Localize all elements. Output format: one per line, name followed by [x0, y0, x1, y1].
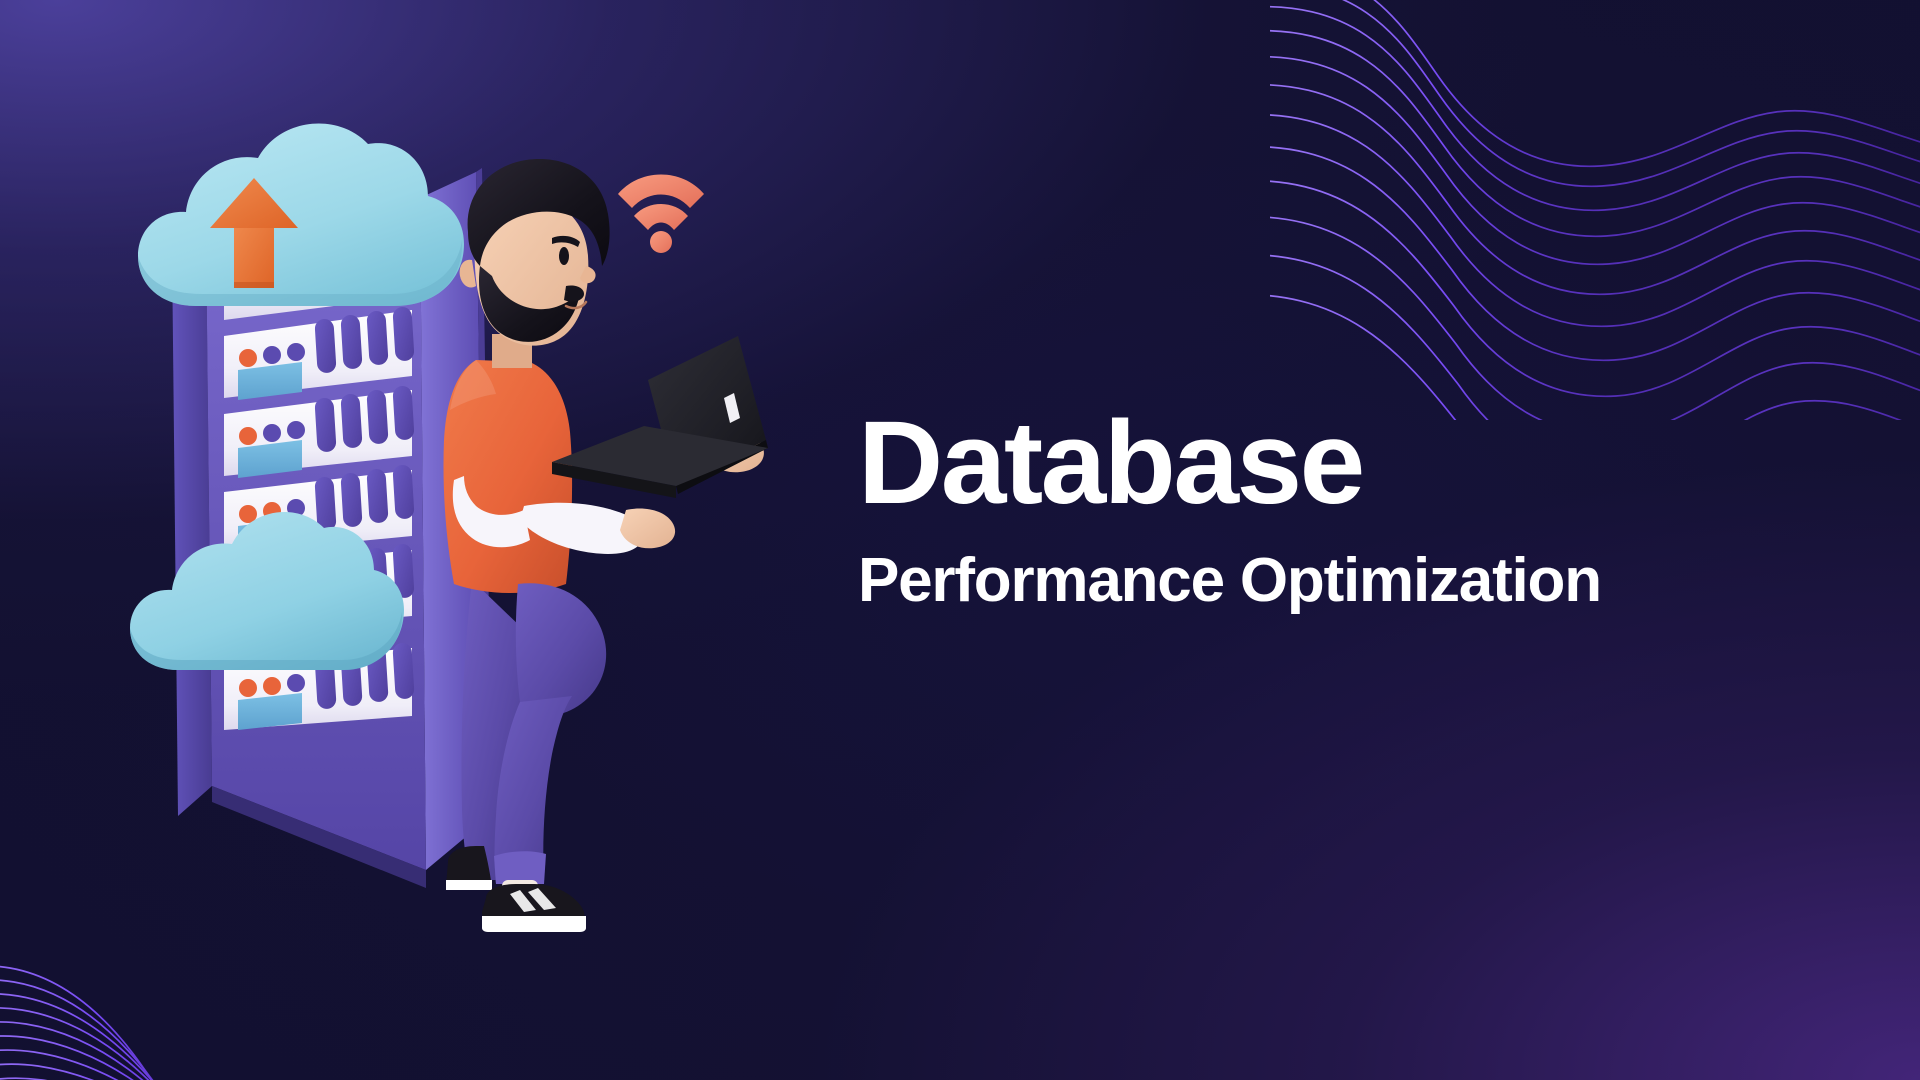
hero-banner: Database Performance Optimization — [0, 0, 1920, 1080]
wifi-icon — [618, 175, 704, 254]
character-front-thigh — [516, 583, 606, 715]
server-rack-with-engineer-and-cloud-upload — [120, 110, 840, 940]
laptop-icon — [552, 336, 768, 498]
character-shoe-front — [482, 884, 586, 932]
character-shoe-back — [446, 846, 492, 890]
rack-left-column — [172, 232, 212, 816]
wavy-lines-decoration — [1270, 0, 1920, 420]
cloud-upload-icon — [138, 123, 464, 306]
character-eye — [559, 247, 569, 265]
page-title: Database — [858, 404, 1818, 522]
page-subtitle: Performance Optimization — [858, 550, 1818, 612]
headline-block: Database Performance Optimization — [858, 404, 1818, 612]
engineer-avatar — [443, 159, 768, 932]
